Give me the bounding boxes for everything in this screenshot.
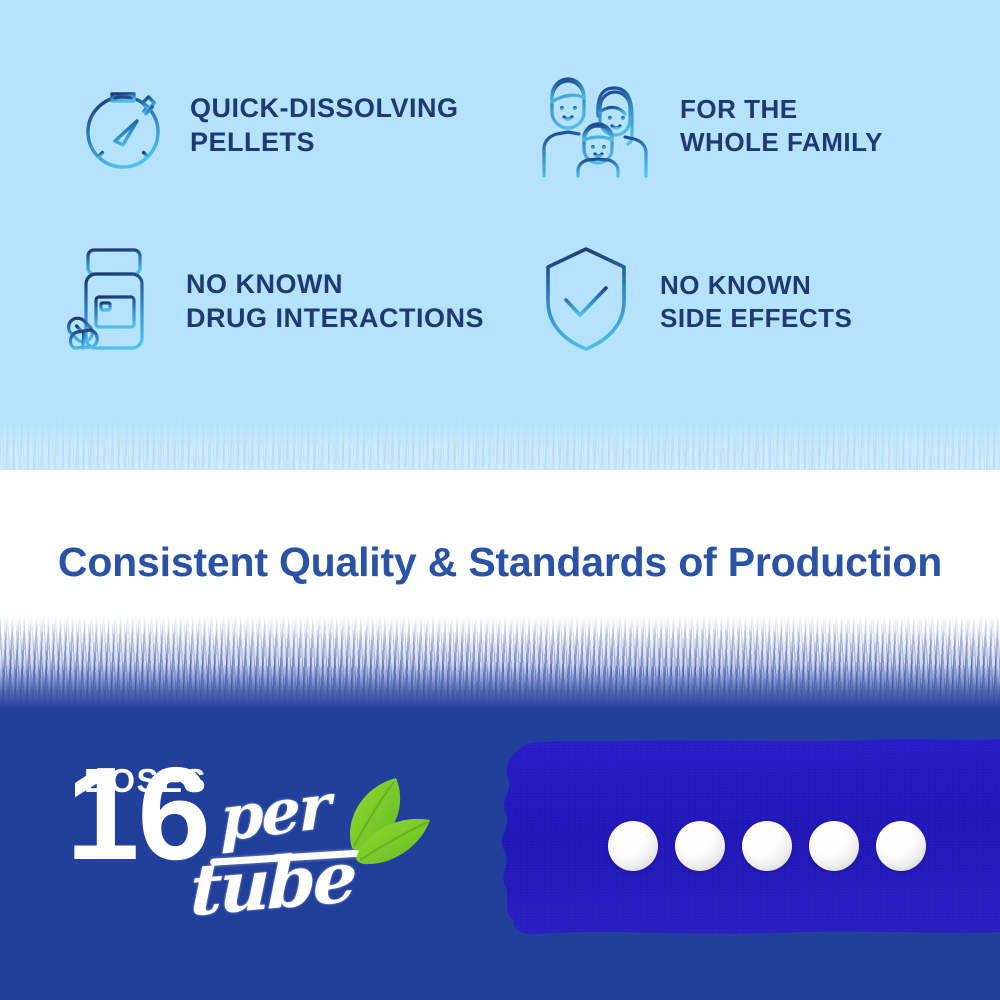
pellet bbox=[742, 821, 792, 871]
brush-transition-bottom bbox=[0, 606, 1000, 718]
mint-leaves-icon bbox=[334, 772, 438, 878]
infographic-page: QUICK-DISSOLVING PELLETS bbox=[0, 0, 1000, 1000]
pellet bbox=[809, 821, 859, 871]
feature-label: QUICK-DISSOLVING PELLETS bbox=[190, 92, 459, 160]
script-tube: tube bbox=[190, 835, 356, 933]
pellet bbox=[608, 821, 658, 871]
pellet bbox=[876, 821, 926, 871]
pellets-brush-patch bbox=[472, 730, 1000, 942]
features-grid: QUICK-DISSOLVING PELLETS bbox=[0, 0, 1000, 410]
feature-quick-dissolving-pellets: QUICK-DISSOLVING PELLETS bbox=[52, 34, 516, 217]
pellet-row bbox=[608, 818, 938, 874]
feature-no-known-side-effects: NO KNOWN SIDE EFFECTS bbox=[516, 203, 980, 400]
shield-check-icon bbox=[534, 240, 638, 363]
stopwatch-icon bbox=[60, 69, 168, 182]
feature-for-the-whole-family: FOR THE WHOLE FAMILY bbox=[516, 34, 980, 217]
pellet bbox=[675, 821, 725, 871]
family-icon bbox=[534, 64, 658, 187]
quality-banner-title: Consistent Quality & Standards of Produc… bbox=[0, 539, 1000, 586]
feature-label: NO KNOWN DRUG INTERACTIONS bbox=[186, 268, 484, 336]
feature-no-known-drug-interactions: NO KNOWN DRUG INTERACTIONS bbox=[52, 203, 516, 400]
feature-label: FOR THE WHOLE FAMILY bbox=[680, 93, 883, 158]
pill-bottle-icon bbox=[60, 240, 164, 363]
feature-label: NO KNOWN SIDE EFFECTS bbox=[660, 269, 852, 334]
